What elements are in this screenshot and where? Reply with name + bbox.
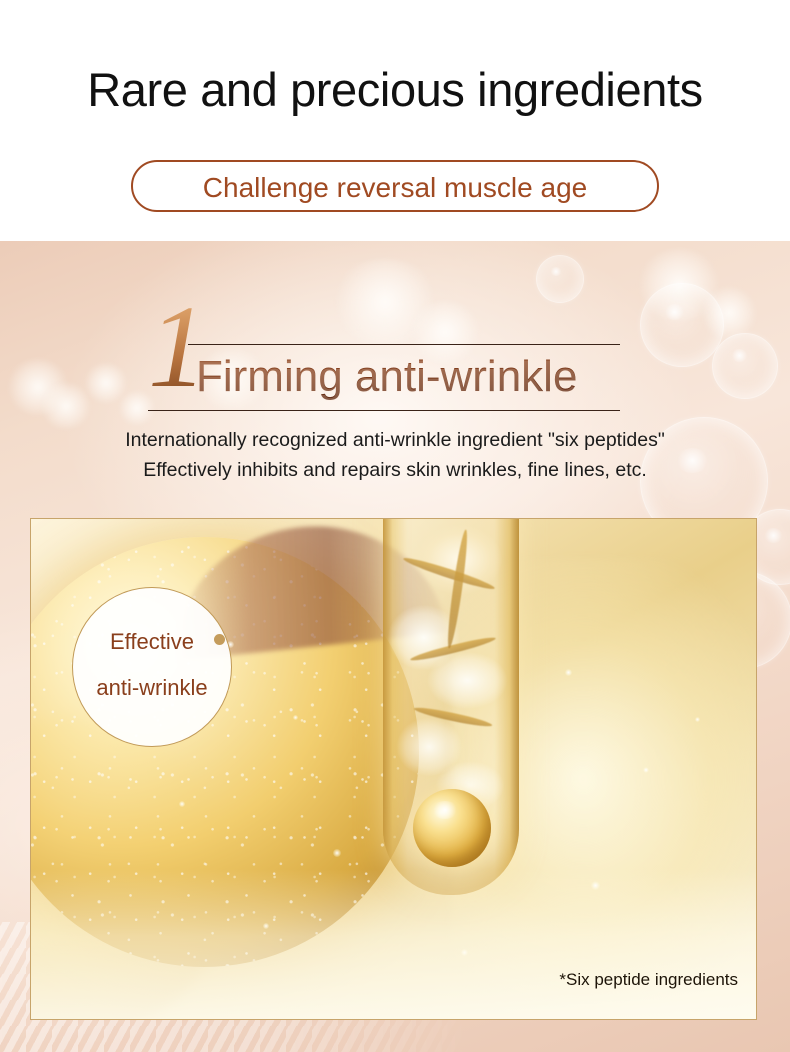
section-copy: Internationally recognized anti-wrinkle … <box>0 425 790 485</box>
bokeh-orb <box>40 383 92 429</box>
effective-badge: Effective anti-wrinkle <box>72 587 232 747</box>
photo-caption: *Six peptide ingredients <box>559 969 738 991</box>
copy-line-1: Internationally recognized anti-wrinkle … <box>0 425 790 455</box>
bokeh-orb <box>700 287 758 339</box>
badge-dot-icon <box>214 634 225 645</box>
heading-rule-top <box>188 344 620 345</box>
sparkle-speck <box>179 801 185 807</box>
sparkle-speck <box>565 669 572 676</box>
sparkle-speck <box>333 849 341 857</box>
section-title: Firming anti-wrinkle <box>196 347 577 407</box>
photo-floor-glow <box>31 869 756 1019</box>
bokeh-orb <box>6 359 70 415</box>
section-heading: 1 Firming anti-wrinkle <box>148 300 648 412</box>
sparkle-speck <box>643 767 649 773</box>
badge-line-1: Effective <box>73 629 231 655</box>
gold-droplet <box>413 789 491 867</box>
tagline-pill-label: Challenge reversal muscle age <box>133 162 657 214</box>
bubble <box>712 333 778 399</box>
bubble <box>536 255 584 303</box>
bubble <box>640 283 724 367</box>
copy-line-2: Effectively inhibits and repairs skin wr… <box>0 455 790 485</box>
header-band: Rare and precious ingredients Challenge … <box>0 0 790 241</box>
sparkle-speck <box>695 717 700 722</box>
promo-page: Rare and precious ingredients Challenge … <box>0 0 790 1052</box>
tagline-pill[interactable]: Challenge reversal muscle age <box>131 160 659 212</box>
page-title: Rare and precious ingredients <box>0 66 790 113</box>
glass-test-tube <box>383 518 519 895</box>
heading-rule-bottom <box>148 410 620 411</box>
bokeh-orb <box>636 249 722 321</box>
sparkle-speck <box>293 715 298 720</box>
bokeh-orb <box>84 363 128 403</box>
badge-line-2: anti-wrinkle <box>73 675 231 701</box>
